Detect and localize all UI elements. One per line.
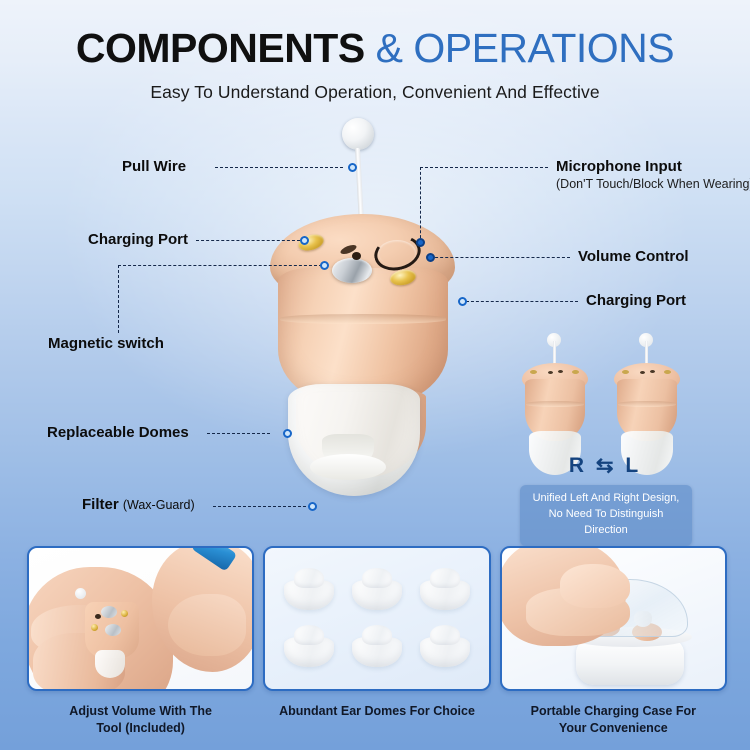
- callout-microphone-input-label: Microphone Input: [556, 158, 682, 175]
- ear-dome-item: [416, 623, 474, 669]
- magnetic-switch-icon: [332, 258, 372, 283]
- hearing-aid-device: [270, 118, 455, 518]
- ear-domes-grid: [275, 560, 478, 675]
- magnetic-switch-small-icon: [101, 606, 117, 618]
- marker-replaceable-domes: [283, 429, 292, 438]
- callout-replaceable-domes: Replaceable Domes: [47, 424, 189, 441]
- marker-charging-port-left: [300, 236, 309, 245]
- leader-pull-wire: [215, 167, 343, 168]
- leader-microphone-input-vertical: [420, 167, 421, 243]
- callout-charging-port-left-label: Charging Port: [88, 231, 188, 248]
- device-seam: [280, 314, 446, 324]
- caption-charging-case: Portable Charging Case For Your Convenie…: [500, 700, 727, 746]
- microphone-port-secondary-icon: [352, 252, 361, 260]
- hand-opening-case-thumb: [560, 564, 630, 608]
- page-title: COMPONENTS & OPERATIONS: [0, 28, 750, 69]
- right-ear-letter: R: [569, 454, 587, 477]
- dome-filter-lip: [310, 454, 386, 480]
- marker-volume-control: [426, 253, 435, 262]
- marker-pull-wire: [348, 163, 357, 172]
- callout-pull-wire-label: Pull Wire: [122, 158, 186, 175]
- pull-wire-ball: [342, 118, 374, 150]
- mic-small-icon: [95, 614, 101, 619]
- left-right-pair-group: R ⇆ L Unified Left And Right Design, No …: [510, 345, 700, 530]
- unified-design-note: Unified Left And Right Design, No Need T…: [520, 485, 692, 546]
- caption-ear-domes-line1: Abundant Ear Domes For Choice: [279, 704, 475, 718]
- caption-adjust-volume: Adjust Volume With The Tool (Included): [27, 700, 254, 746]
- callout-replaceable-domes-label: Replaceable Domes: [47, 424, 189, 441]
- panel-ear-domes[interactable]: [263, 546, 490, 691]
- mini-seam-right: [526, 401, 584, 407]
- leader-charging-port-left: [196, 240, 300, 241]
- page-subtitle: Easy To Understand Operation, Convenient…: [0, 82, 750, 103]
- feature-panels: [27, 546, 727, 691]
- hearing-aid-face-small: [89, 604, 135, 638]
- panel-captions: Adjust Volume With The Tool (Included) A…: [27, 700, 727, 746]
- ear-dome-item: [348, 566, 406, 612]
- mini-mic-secondary-icon: [558, 370, 563, 373]
- volume-dial-small-icon: [105, 624, 121, 636]
- panel-adjust-volume[interactable]: [27, 546, 254, 691]
- caption-charging-case-line2: Your Convenience: [559, 721, 668, 735]
- ear-dome-item: [416, 566, 474, 612]
- mini-face-right: [528, 366, 582, 380]
- thumb-illustration: [168, 594, 246, 656]
- callout-charging-port-right: Charging Port: [586, 292, 686, 309]
- mini-seam-left: [618, 401, 676, 407]
- page-title-primary: COMPONENTS: [76, 25, 365, 71]
- callout-charging-port-right-label: Charging Port: [586, 292, 686, 309]
- callout-volume-control: Volume Control: [578, 248, 689, 265]
- leader-microphone-input: [420, 167, 548, 168]
- marker-charging-port-right: [458, 297, 467, 306]
- leader-charging-port-right: [466, 301, 578, 302]
- pull-wire-ball-small: [75, 588, 86, 599]
- callout-filter-note: (Wax-Guard): [123, 498, 195, 512]
- callout-charging-port-left: Charging Port: [88, 231, 188, 248]
- left-ear-letter: L: [625, 454, 641, 477]
- volume-control-dial-icon: [378, 240, 416, 266]
- callout-volume-control-label: Volume Control: [578, 248, 689, 265]
- leader-volume-control: [430, 257, 570, 258]
- marker-filter: [308, 502, 317, 511]
- mini-contact-icon: [530, 370, 537, 374]
- leader-magnetic-switch: [118, 265, 322, 266]
- mini-mic-icon: [640, 371, 645, 374]
- mini-contact-secondary-icon: [664, 370, 671, 374]
- panel-charging-case[interactable]: [500, 546, 727, 691]
- ear-dome-item: [348, 623, 406, 669]
- caption-adjust-volume-line2: Tool (Included): [96, 721, 185, 735]
- leader-magnetic-switch-vertical: [118, 265, 119, 333]
- contact-gold-secondary-icon: [121, 610, 128, 617]
- callout-filter-label: Filter: [82, 496, 119, 513]
- callout-magnetic-switch: Magnetic switch: [48, 335, 164, 352]
- contact-gold-icon: [91, 624, 98, 631]
- caption-ear-domes: Abundant Ear Domes For Choice: [263, 700, 490, 746]
- mini-mic-icon: [548, 371, 553, 374]
- mini-contact-icon: [622, 370, 629, 374]
- page-title-secondary: & OPERATIONS: [376, 25, 675, 71]
- ear-dome-item: [280, 623, 338, 669]
- callout-filter: Filter (Wax-Guard): [82, 496, 195, 513]
- caption-charging-case-line1: Portable Charging Case For: [531, 704, 696, 718]
- left-right-indicator: R ⇆ L: [510, 453, 700, 478]
- callout-pull-wire: Pull Wire: [122, 158, 186, 175]
- mini-mic-secondary-icon: [650, 370, 655, 373]
- marker-magnetic-switch: [320, 261, 329, 270]
- callout-microphone-input: Microphone Input (Don'T Touch/Block When…: [556, 158, 750, 192]
- ear-dome-item: [280, 566, 338, 612]
- callout-microphone-input-note: (Don'T Touch/Block When Wearing): [556, 177, 750, 191]
- marker-microphone-input: [416, 238, 425, 247]
- hearing-aid-dome-small: [95, 650, 125, 678]
- unified-design-note-line2: No Need To Distinguish Direction: [549, 508, 664, 536]
- unified-design-note-line1: Unified Left And Right Design,: [533, 492, 680, 504]
- swap-arrows-icon: ⇆: [596, 454, 617, 477]
- mini-face-left: [620, 366, 674, 380]
- caption-adjust-volume-line1: Adjust Volume With The: [69, 704, 212, 718]
- leader-filter: [213, 506, 311, 507]
- header: COMPONENTS & OPERATIONS Easy To Understa…: [0, 0, 750, 103]
- callout-magnetic-switch-label: Magnetic switch: [48, 335, 164, 352]
- mini-contact-secondary-icon: [572, 370, 579, 374]
- leader-replaceable-domes: [207, 433, 270, 434]
